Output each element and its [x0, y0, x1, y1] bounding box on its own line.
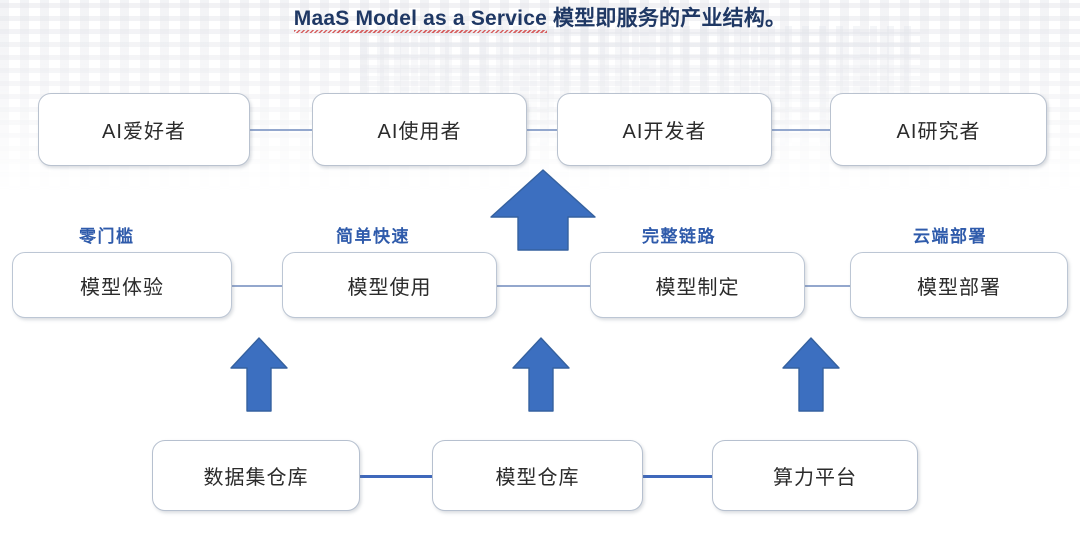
arrow-infra-to-experience-icon	[228, 336, 290, 414]
node-label: 模型仓库	[496, 461, 580, 490]
node-label: 模型部署	[917, 271, 1001, 300]
node-ai-researcher[interactable]: AI研究者	[830, 93, 1047, 166]
connector-user-developer	[527, 129, 557, 131]
node-model-repository[interactable]: 模型仓库	[432, 440, 643, 511]
connector-modelrepo-compute	[643, 475, 712, 478]
node-compute-platform[interactable]: 算力平台	[712, 440, 918, 511]
node-label: 模型使用	[348, 271, 432, 300]
node-model-build[interactable]: 模型制定	[590, 252, 805, 318]
node-model-deploy[interactable]: 模型部署	[850, 252, 1068, 318]
node-label: AI研究者	[897, 115, 981, 144]
stage-label-full-chain: 完整链路	[642, 222, 716, 247]
node-label: 模型体验	[80, 271, 164, 300]
node-model-usage[interactable]: 模型使用	[282, 252, 497, 318]
node-ai-enthusiast[interactable]: AI爱好者	[38, 93, 250, 166]
connector-enthusiast-user	[250, 129, 312, 131]
arrow-infra-to-usage-icon	[510, 336, 572, 414]
connector-build-deploy	[805, 285, 850, 287]
connector-dataset-modelrepo	[360, 475, 432, 478]
stage-label-zero-threshold: 零门槛	[79, 222, 135, 247]
node-label: AI使用者	[378, 115, 462, 144]
arrow-infra-to-build-icon	[780, 336, 842, 414]
diagram-title: MaaS Model as a Service 模型即服务的产业结构。	[0, 2, 1080, 32]
title-english: MaaS Model as a Service	[294, 7, 547, 32]
node-label: AI爱好者	[102, 115, 186, 144]
node-ai-developer[interactable]: AI开发者	[557, 93, 772, 166]
title-chinese: 模型即服务的产业结构。	[553, 7, 786, 30]
arrow-capability-to-audience-icon	[488, 168, 598, 252]
node-dataset-repository[interactable]: 数据集仓库	[152, 440, 360, 511]
node-label: 数据集仓库	[204, 461, 309, 490]
connector-experience-usage	[232, 285, 282, 287]
stage-label-cloud-deploy: 云端部署	[913, 222, 987, 247]
node-ai-user[interactable]: AI使用者	[312, 93, 527, 166]
node-model-experience[interactable]: 模型体验	[12, 252, 232, 318]
node-label: 算力平台	[773, 461, 857, 490]
node-label: AI开发者	[623, 115, 707, 144]
node-label: 模型制定	[656, 271, 740, 300]
maas-architecture-diagram: MaaS Model as a Service 模型即服务的产业结构。 AI爱好…	[0, 0, 1080, 536]
connector-usage-build	[497, 285, 590, 287]
connector-developer-researcher	[772, 129, 830, 131]
stage-label-simple-fast: 简单快速	[336, 222, 410, 247]
